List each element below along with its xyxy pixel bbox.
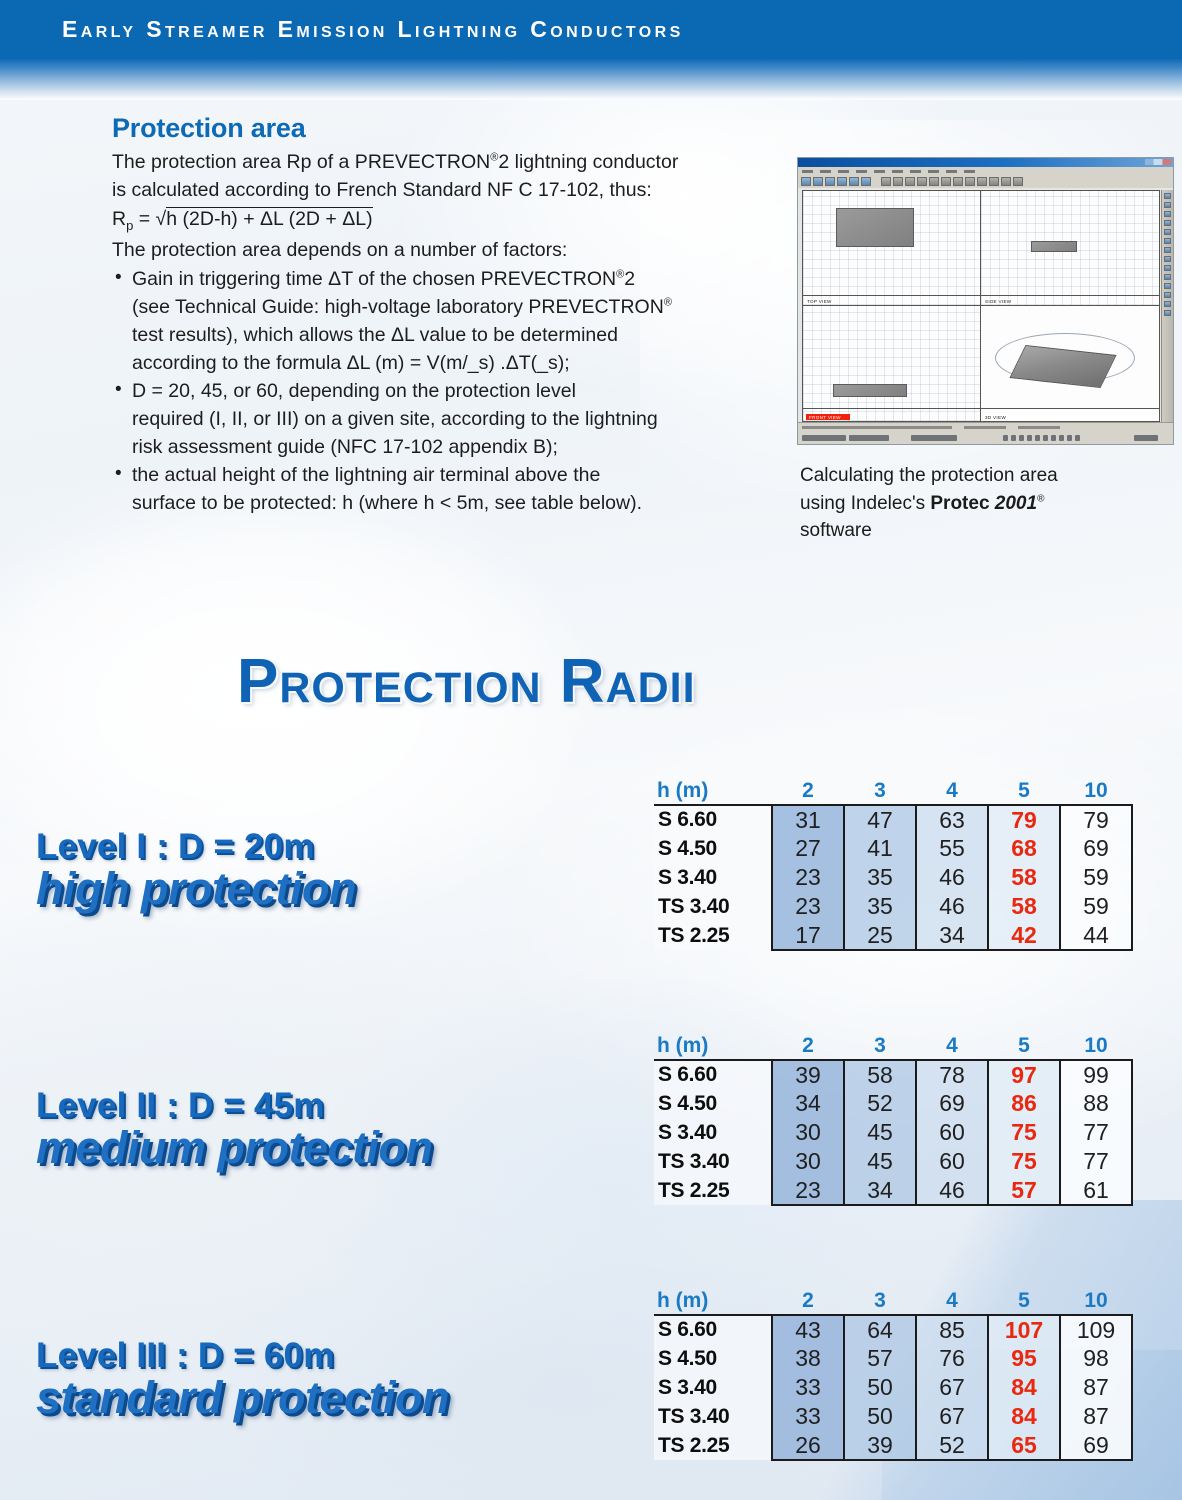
intro-paragraph-1: The protection area Rp of a PREVECTRON®2… — [112, 149, 784, 177]
bullet-1-line-1: Gain in triggering time ΔT of the chosen… — [132, 268, 616, 290]
banner-gradient-fade — [0, 58, 1182, 100]
level-3-subtitle: standard protection — [36, 1372, 449, 1424]
cell-value: 77 — [1060, 1147, 1132, 1176]
toolbar-icon — [977, 177, 987, 186]
cell-value: 33 — [772, 1402, 844, 1431]
window-menubar — [798, 167, 1173, 175]
table-header-row: h (m)234510 — [654, 778, 1132, 805]
row-label-model: TS 3.40 — [654, 892, 772, 921]
table-row: TS 3.403045607577 — [654, 1147, 1132, 1176]
intro-p1-line1: The protection area Rp of a PREVECTRON — [112, 151, 490, 173]
protection-radii-table-level-3: h (m)234510S 6.60436485107109S 4.5038577… — [654, 1288, 1133, 1461]
caption-line-2-prefix: using Indelec's — [800, 493, 930, 514]
toolbar-icon — [893, 177, 903, 186]
status-tool-icon — [1059, 435, 1064, 441]
intro-paragraph-2: The protection area depends on a number … — [112, 237, 784, 265]
screenshot-caption: Calculating the protection area using In… — [800, 462, 1170, 545]
right-toolbar-icon — [1164, 193, 1171, 199]
cell-value: 44 — [1060, 921, 1132, 950]
status-tool-icon — [1075, 435, 1080, 441]
column-header-5: 5 — [988, 778, 1060, 805]
status-tool-icon — [1043, 435, 1048, 441]
cell-value: 97 — [988, 1060, 1060, 1089]
row-label-model: S 3.40 — [654, 863, 772, 892]
cell-value: 52 — [844, 1089, 916, 1118]
rp-formula: Rp = √h (2D-h) + ΔL (2D + ΔL) — [112, 205, 784, 235]
cell-value: 87 — [1060, 1402, 1132, 1431]
formula-rp: R — [112, 208, 126, 230]
level-1-subtitle: high protection — [36, 863, 356, 915]
toolbar-icon — [917, 177, 927, 186]
level-2-title: Level II : D = 45m — [36, 1086, 433, 1126]
cell-value: 45 — [844, 1118, 916, 1147]
right-toolbar-icon — [1164, 310, 1171, 316]
statusbar-lower-row — [798, 432, 1173, 444]
cell-value: 69 — [1060, 1431, 1132, 1460]
cell-value: 23 — [772, 1176, 844, 1205]
registered-mark-icon: ® — [664, 297, 672, 309]
cell-value: 79 — [1060, 805, 1132, 834]
cell-value: 46 — [916, 1176, 988, 1205]
table-row: S 6.603958789799 — [654, 1060, 1132, 1089]
cell-value: 59 — [1060, 892, 1132, 921]
column-header-4: 4 — [916, 1288, 988, 1315]
right-toolbar-icon — [1164, 301, 1171, 307]
cell-value: 99 — [1060, 1060, 1132, 1089]
row-label-model: TS 2.25 — [654, 921, 772, 950]
table-row: TS 3.403350678487 — [654, 1402, 1132, 1431]
right-toolbar-icon — [1164, 292, 1171, 298]
toolbar-icon — [801, 177, 811, 186]
right-toolbar-icon — [1164, 211, 1171, 217]
toolbar-icon — [1013, 177, 1023, 186]
cell-value: 31 — [772, 805, 844, 834]
right-toolbar-icon — [1164, 265, 1171, 271]
cell-value: 61 — [1060, 1176, 1132, 1205]
row-label-model: S 3.40 — [654, 1373, 772, 1402]
cad-pane-side-view[interactable]: SIDE VIEW — [981, 191, 1159, 306]
cell-value: 46 — [916, 863, 988, 892]
toolbar-icon — [881, 177, 891, 186]
pane-divider — [981, 295, 1159, 296]
toolbar-icon — [929, 177, 939, 186]
cell-value: 58 — [988, 863, 1060, 892]
cell-value: 23 — [772, 892, 844, 921]
table-row: TS 2.252334465761 — [654, 1176, 1132, 1205]
column-header-h-m: h (m) — [654, 778, 772, 805]
toolbar-icon — [861, 177, 871, 186]
cell-value: 33 — [772, 1373, 844, 1402]
status-tool-icon — [1011, 435, 1016, 441]
toolbar-icon — [941, 177, 951, 186]
cell-value: 38 — [772, 1344, 844, 1373]
row-label-model: TS 2.25 — [654, 1176, 772, 1205]
menu-item-icon — [856, 170, 867, 173]
table-row: S 4.503452698688 — [654, 1089, 1132, 1118]
cell-value: 42 — [988, 921, 1060, 950]
column-header-10: 10 — [1060, 778, 1132, 805]
level-label-2: Level II : D = 45m medium protection — [36, 1086, 433, 1174]
row-label-model: S 4.50 — [654, 834, 772, 863]
cad-viewport-grid: TOP VIEW SIDE VIEW FRONT VIEW 3D VIE — [802, 190, 1160, 422]
column-header-5: 5 — [988, 1033, 1060, 1060]
cell-value: 78 — [916, 1060, 988, 1089]
menu-item-icon — [820, 170, 831, 173]
cell-value: 69 — [916, 1089, 988, 1118]
pane-divider — [803, 295, 980, 296]
cell-value: 75 — [988, 1118, 1060, 1147]
pane-divider — [803, 408, 980, 409]
cell-value: 39 — [772, 1060, 844, 1089]
cad-pane-label-front: FRONT VIEW — [806, 414, 850, 420]
toolbar-icon — [1001, 177, 1011, 186]
cell-value: 23 — [772, 863, 844, 892]
cell-value: 85 — [916, 1315, 988, 1344]
status-tool-icon — [1051, 435, 1056, 441]
toolbar-icon — [813, 177, 823, 186]
table-row: TS 2.252639526569 — [654, 1431, 1132, 1460]
cell-value: 63 — [916, 805, 988, 834]
right-toolbar-icon — [1164, 229, 1171, 235]
cell-value: 87 — [1060, 1373, 1132, 1402]
toolbar-icon — [989, 177, 999, 186]
bullet-2-line-3: risk assessment guide (NFC 17-102 append… — [132, 436, 558, 458]
cell-value: 58 — [988, 892, 1060, 921]
cell-value: 35 — [844, 892, 916, 921]
factors-list: Gain in triggering time ΔT of the chosen… — [112, 266, 784, 517]
table-row: S 6.603147637979 — [654, 805, 1132, 834]
window-titlebar — [798, 158, 1173, 167]
cell-value: 35 — [844, 863, 916, 892]
bullet-2-line-2: required (I, II, or III) on a given site… — [132, 408, 658, 430]
table-row: S 4.502741556869 — [654, 834, 1132, 863]
window-right-toolbar[interactable] — [1161, 190, 1173, 422]
column-header-2: 2 — [772, 1033, 844, 1060]
product-year: 2001 — [990, 493, 1038, 514]
cell-value: 41 — [844, 834, 916, 863]
statusbar-upper-row — [798, 423, 1173, 432]
cell-value: 95 — [988, 1344, 1060, 1373]
status-tool-icon — [1067, 435, 1072, 441]
software-window: TOP VIEW SIDE VIEW FRONT VIEW 3D VIE — [797, 157, 1174, 445]
cell-value: 27 — [772, 834, 844, 863]
cell-value: 109 — [1060, 1315, 1132, 1344]
column-header-3: 3 — [844, 1288, 916, 1315]
page-banner: Early Streamer Emission Lightning Conduc… — [0, 0, 1182, 58]
cell-value: 107 — [988, 1315, 1060, 1344]
registered-mark-icon: ® — [1037, 493, 1044, 504]
cell-value: 50 — [844, 1402, 916, 1431]
cell-value: 39 — [844, 1431, 916, 1460]
caption-line-3: software — [800, 517, 1170, 545]
toolbar-icon — [849, 177, 859, 186]
cell-value: 34 — [916, 921, 988, 950]
cell-value: 60 — [916, 1147, 988, 1176]
protection-radii-table-level-1: h (m)234510S 6.603147637979S 4.502741556… — [654, 778, 1133, 951]
table-row: S 3.403045607577 — [654, 1118, 1132, 1147]
protec-software-screenshot: TOP VIEW SIDE VIEW FRONT VIEW 3D VIE — [797, 157, 1174, 445]
cell-value: 50 — [844, 1373, 916, 1402]
table-header-row: h (m)234510 — [654, 1288, 1132, 1315]
menu-item-icon — [964, 170, 975, 173]
menu-item-icon — [892, 170, 903, 173]
cell-value: 47 — [844, 805, 916, 834]
row-label-model: S 3.40 — [654, 1118, 772, 1147]
section-title-protection-radii: Protection Radii — [237, 646, 696, 717]
column-header-2: 2 — [772, 1288, 844, 1315]
protection-radii-table-level-2: h (m)234510S 6.603958789799S 4.503452698… — [654, 1033, 1133, 1206]
cad-pane-label-top: TOP VIEW — [806, 299, 833, 304]
cell-value: 64 — [844, 1315, 916, 1344]
window-controls-icon — [1145, 159, 1171, 165]
table-row: TS 3.402335465859 — [654, 892, 1132, 921]
row-label-model: S 6.60 — [654, 1060, 772, 1089]
cad-pane-top-view[interactable]: TOP VIEW — [803, 191, 981, 306]
pane-divider — [981, 408, 1159, 409]
toolbar-icon — [905, 177, 915, 186]
building-side-shape — [1031, 241, 1077, 252]
row-label-model: TS 3.40 — [654, 1402, 772, 1431]
taskbar-button-icon — [849, 435, 889, 441]
level-label-1: Level I : D = 20m high protection — [36, 827, 356, 915]
level-label-3: Level III : D = 60m standard protection — [36, 1336, 449, 1424]
column-header-4: 4 — [916, 778, 988, 805]
list-item: the actual height of the lightning air t… — [112, 462, 784, 517]
level-1-title: Level I : D = 20m — [36, 827, 356, 867]
cell-value: 69 — [1060, 834, 1132, 863]
column-header-10: 10 — [1060, 1288, 1132, 1315]
level-2-subtitle: medium protection — [36, 1122, 433, 1174]
cell-value: 88 — [1060, 1089, 1132, 1118]
bullet-1-line-4: according to the formula ΔL (m) = V(m/_s… — [132, 352, 570, 374]
cell-value: 25 — [844, 921, 916, 950]
column-header-2: 2 — [772, 778, 844, 805]
right-toolbar-icon — [1164, 274, 1171, 280]
cell-value: 30 — [772, 1147, 844, 1176]
table-row: S 4.503857769598 — [654, 1344, 1132, 1373]
row-label-model: S 4.50 — [654, 1344, 772, 1373]
cell-value: 46 — [916, 892, 988, 921]
toolbar-icon — [825, 177, 835, 186]
cell-value: 34 — [772, 1089, 844, 1118]
status-tool-icon — [1003, 435, 1008, 441]
cad-pane-label-3d: 3D VIEW — [984, 415, 1007, 420]
caption-line-1: Calculating the protection area — [800, 462, 1170, 490]
cell-value: 86 — [988, 1089, 1060, 1118]
menu-item-icon — [910, 170, 921, 173]
taskbar-button-icon — [802, 435, 846, 441]
menu-item-icon — [802, 170, 813, 173]
menu-item-icon — [928, 170, 939, 173]
menu-item-icon — [946, 170, 957, 173]
window-statusbar — [798, 422, 1173, 444]
column-header-3: 3 — [844, 778, 916, 805]
window-toolbar — [798, 175, 1173, 188]
bullet-3-line-1: the actual height of the lightning air t… — [132, 464, 600, 486]
column-header-h-m: h (m) — [654, 1288, 772, 1315]
toolbar-icon — [953, 177, 963, 186]
cell-value: 57 — [988, 1176, 1060, 1205]
cell-value: 57 — [844, 1344, 916, 1373]
row-label-model: S 4.50 — [654, 1089, 772, 1118]
right-toolbar-icon — [1164, 247, 1171, 253]
building-footprint-shape — [836, 208, 914, 247]
right-toolbar-icon — [1164, 238, 1171, 244]
column-header-3: 3 — [844, 1033, 916, 1060]
cell-value: 34 — [844, 1176, 916, 1205]
building-front-shape — [833, 384, 907, 397]
row-label-model: TS 2.25 — [654, 1431, 772, 1460]
table-row: TS 2.251725344244 — [654, 921, 1132, 950]
cell-value: 84 — [988, 1373, 1060, 1402]
intro-p1-line2: is calculated according to French Standa… — [112, 177, 784, 205]
cell-value: 43 — [772, 1315, 844, 1344]
cell-value: 65 — [988, 1431, 1060, 1460]
cell-value: 45 — [844, 1147, 916, 1176]
cell-value: 55 — [916, 834, 988, 863]
level-3-title: Level III : D = 60m — [36, 1336, 449, 1376]
cell-value: 77 — [1060, 1118, 1132, 1147]
caption-line-2: using Indelec's Protec 2001® — [800, 490, 1170, 518]
cell-value: 17 — [772, 921, 844, 950]
cad-pane-3d-view[interactable]: 3D VIEW — [981, 306, 1159, 421]
table-row: S 3.403350678487 — [654, 1373, 1132, 1402]
statusbar-field — [964, 426, 1006, 429]
cell-value: 98 — [1060, 1344, 1132, 1373]
table-header-row: h (m)234510 — [654, 1033, 1132, 1060]
statusbar-field — [802, 426, 952, 429]
column-header-h-m: h (m) — [654, 1033, 772, 1060]
cell-value: 59 — [1060, 863, 1132, 892]
cell-value: 67 — [916, 1402, 988, 1431]
table-row: S 6.60436485107109 — [654, 1315, 1132, 1344]
row-label-model: S 6.60 — [654, 1315, 772, 1344]
formula-equals-radical: = √ — [133, 208, 166, 230]
status-tool-icon — [1035, 435, 1040, 441]
formula-body: h (2D-h) + ΔL (2D + ΔL) — [166, 207, 372, 230]
right-toolbar-icon — [1164, 220, 1171, 226]
cell-value: 84 — [988, 1402, 1060, 1431]
right-toolbar-icon — [1164, 256, 1171, 262]
row-label-model: S 6.60 — [654, 805, 772, 834]
page-title: Protection area — [112, 113, 784, 144]
bullet-1-line-1b: 2 — [624, 268, 635, 290]
toolbar-icon — [837, 177, 847, 186]
column-header-5: 5 — [988, 1288, 1060, 1315]
cell-value: 58 — [844, 1060, 916, 1089]
cell-value: 52 — [916, 1431, 988, 1460]
product-brand-name: Protec — [930, 493, 989, 514]
cad-pane-label-side: SIDE VIEW — [984, 299, 1012, 304]
list-item: D = 20, 45, or 60, depending on the prot… — [112, 378, 784, 461]
cell-value: 67 — [916, 1373, 988, 1402]
bullet-2-line-1: D = 20, 45, or 60, depending on the prot… — [132, 380, 576, 402]
taskbar-button-icon — [911, 435, 957, 441]
banner-title: Early Streamer Emission Lightning Conduc… — [62, 16, 684, 43]
row-label-model: TS 3.40 — [654, 1147, 772, 1176]
column-header-10: 10 — [1060, 1033, 1132, 1060]
cad-pane-front-view[interactable]: FRONT VIEW — [803, 306, 981, 421]
column-header-4: 4 — [916, 1033, 988, 1060]
bullet-3-line-2: surface to be protected: h (where h < 5m… — [132, 492, 642, 514]
status-tool-icon — [1027, 435, 1032, 441]
intro-p1-line1b: 2 lightning conductor — [498, 151, 678, 173]
system-tray-icon — [1134, 435, 1158, 441]
menu-item-icon — [874, 170, 885, 173]
cell-value: 60 — [916, 1118, 988, 1147]
cell-value: 68 — [988, 834, 1060, 863]
toolbar-icon — [965, 177, 975, 186]
cell-value: 30 — [772, 1118, 844, 1147]
cell-value: 79 — [988, 805, 1060, 834]
statusbar-field — [1018, 426, 1060, 429]
list-item: Gain in triggering time ΔT of the chosen… — [112, 266, 784, 377]
bullet-1-line-3: test results), which allows the ΔL value… — [132, 324, 618, 346]
right-toolbar-icon — [1164, 283, 1171, 289]
cell-value: 75 — [988, 1147, 1060, 1176]
table-row: S 3.402335465859 — [654, 863, 1132, 892]
right-toolbar-icon — [1164, 202, 1171, 208]
cell-value: 76 — [916, 1344, 988, 1373]
bullet-1-line-2: (see Technical Guide: high-voltage labor… — [132, 296, 664, 318]
status-tool-icon — [1019, 435, 1024, 441]
protection-area-section: Protection area The protection area Rp o… — [112, 113, 784, 518]
cell-value: 26 — [772, 1431, 844, 1460]
menu-item-icon — [838, 170, 849, 173]
